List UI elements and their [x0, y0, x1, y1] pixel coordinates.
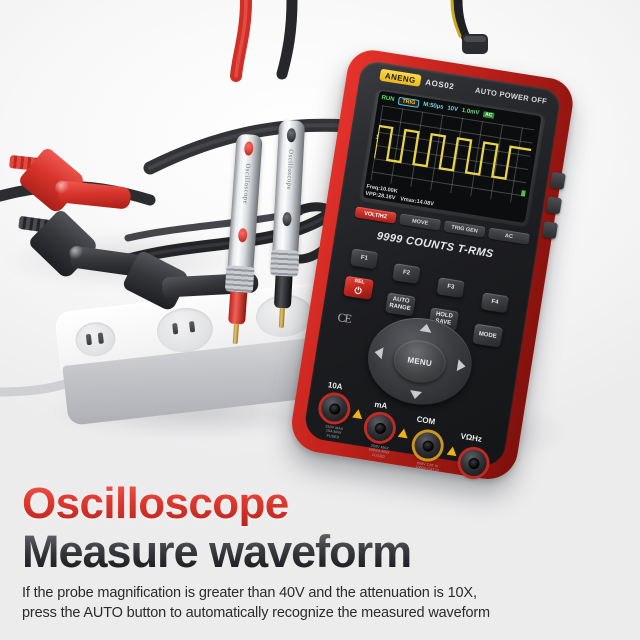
- side-button-2[interactable]: [546, 196, 562, 214]
- warning-triangle-10a: [352, 409, 363, 419]
- probe-red-tip: [233, 324, 239, 344]
- jack-ma-hole: [374, 422, 387, 435]
- arrow-down-icon[interactable]: [409, 390, 422, 400]
- screen-bezel: RUN TRIG M:50µs 10V 1.0mV AC 1: [358, 86, 546, 227]
- button-f4[interactable]: F4: [481, 292, 509, 313]
- probe-black-tip: [279, 308, 285, 328]
- button-power-rel[interactable]: REL ⏻: [343, 276, 374, 300]
- jack-ma-label: mA: [374, 400, 388, 411]
- softkey-ac-dc[interactable]: AC: [488, 228, 530, 245]
- probe-black-neck: [274, 276, 293, 309]
- side-button-3[interactable]: [542, 221, 558, 239]
- button-f2[interactable]: F2: [392, 263, 420, 284]
- power-icon: ⏻: [354, 285, 363, 296]
- product-marketing-image: Oscilloscope Oscilloscope ANENG AOS: [0, 0, 640, 640]
- probe-red-grip: [225, 265, 255, 293]
- headline: Oscilloscope: [22, 482, 622, 526]
- softkey-trig-gen[interactable]: TRIG GEN: [443, 221, 485, 238]
- screen-timebase: M:50µs: [423, 101, 444, 110]
- button-f2-label: F2: [402, 270, 410, 278]
- softkey-move[interactable]: MOVE: [399, 213, 441, 230]
- jack-v-ohm-hz-hole: [467, 457, 480, 470]
- arrow-up-icon[interactable]: [420, 323, 433, 333]
- button-f3[interactable]: F3: [437, 277, 465, 298]
- ce-mark: CE: [336, 310, 352, 327]
- button-f4-label: F4: [491, 299, 499, 307]
- jack-com-label: COM: [416, 415, 436, 427]
- trigger-marker-right: [521, 190, 526, 197]
- jack-10a-hole: [328, 402, 341, 415]
- oscilloscope-screen[interactable]: RUN TRIG M:50µs 10V 1.0mV AC 1: [363, 91, 542, 223]
- brand-badge: ANENG: [379, 69, 421, 87]
- jack-v-ohm-hz-label: VΩHz: [460, 432, 483, 444]
- jack-10a-fineprint: 250V MAX 10A MAX FUSED: [313, 423, 355, 443]
- navigation-dpad[interactable]: MENU: [362, 311, 478, 412]
- jack-10a-label: 10A: [327, 380, 343, 391]
- brand-model: AOS02: [425, 77, 455, 90]
- body-copy: If the probe magnification is greater th…: [22, 583, 622, 624]
- probe-black-grip: [270, 249, 299, 276]
- screen-offset: 1.0mV: [461, 107, 479, 116]
- socket-1: [74, 320, 118, 358]
- probe-red-neck: [228, 292, 247, 325]
- screen-trigger-tag: TRIG: [398, 96, 420, 107]
- button-f1-label: F1: [360, 255, 368, 263]
- warning-triangle-com: [447, 446, 458, 456]
- screen-coupling-chip: AC: [483, 111, 495, 119]
- jack-10a[interactable]: [319, 394, 349, 424]
- screen-volts-div: 10V: [447, 105, 458, 113]
- warning-triangle-ma: [398, 428, 409, 438]
- marketing-copy: Oscilloscope Measure waveform If the pro…: [22, 482, 622, 624]
- softkey-volt-hz[interactable]: VOLT/HZ: [355, 206, 397, 223]
- button-f3-label: F3: [447, 284, 455, 292]
- screen-status-run: RUN: [381, 95, 395, 103]
- button-mode-label: MODE: [478, 331, 497, 340]
- body-copy-line-1: If the probe magnification is greater th…: [22, 583, 622, 604]
- body-copy-line-2: press the AUTO button to automatically r…: [22, 603, 622, 624]
- jack-ma[interactable]: [365, 413, 395, 443]
- multimeter-oscilloscope[interactable]: ANENG AOS02 AUTO POWER OFF RUN TRIG M:50…: [288, 47, 577, 484]
- subheadline: Measure waveform: [22, 528, 622, 576]
- jack-com-hole: [421, 439, 434, 452]
- side-button-1[interactable]: [550, 172, 566, 190]
- button-f1[interactable]: F1: [350, 248, 378, 269]
